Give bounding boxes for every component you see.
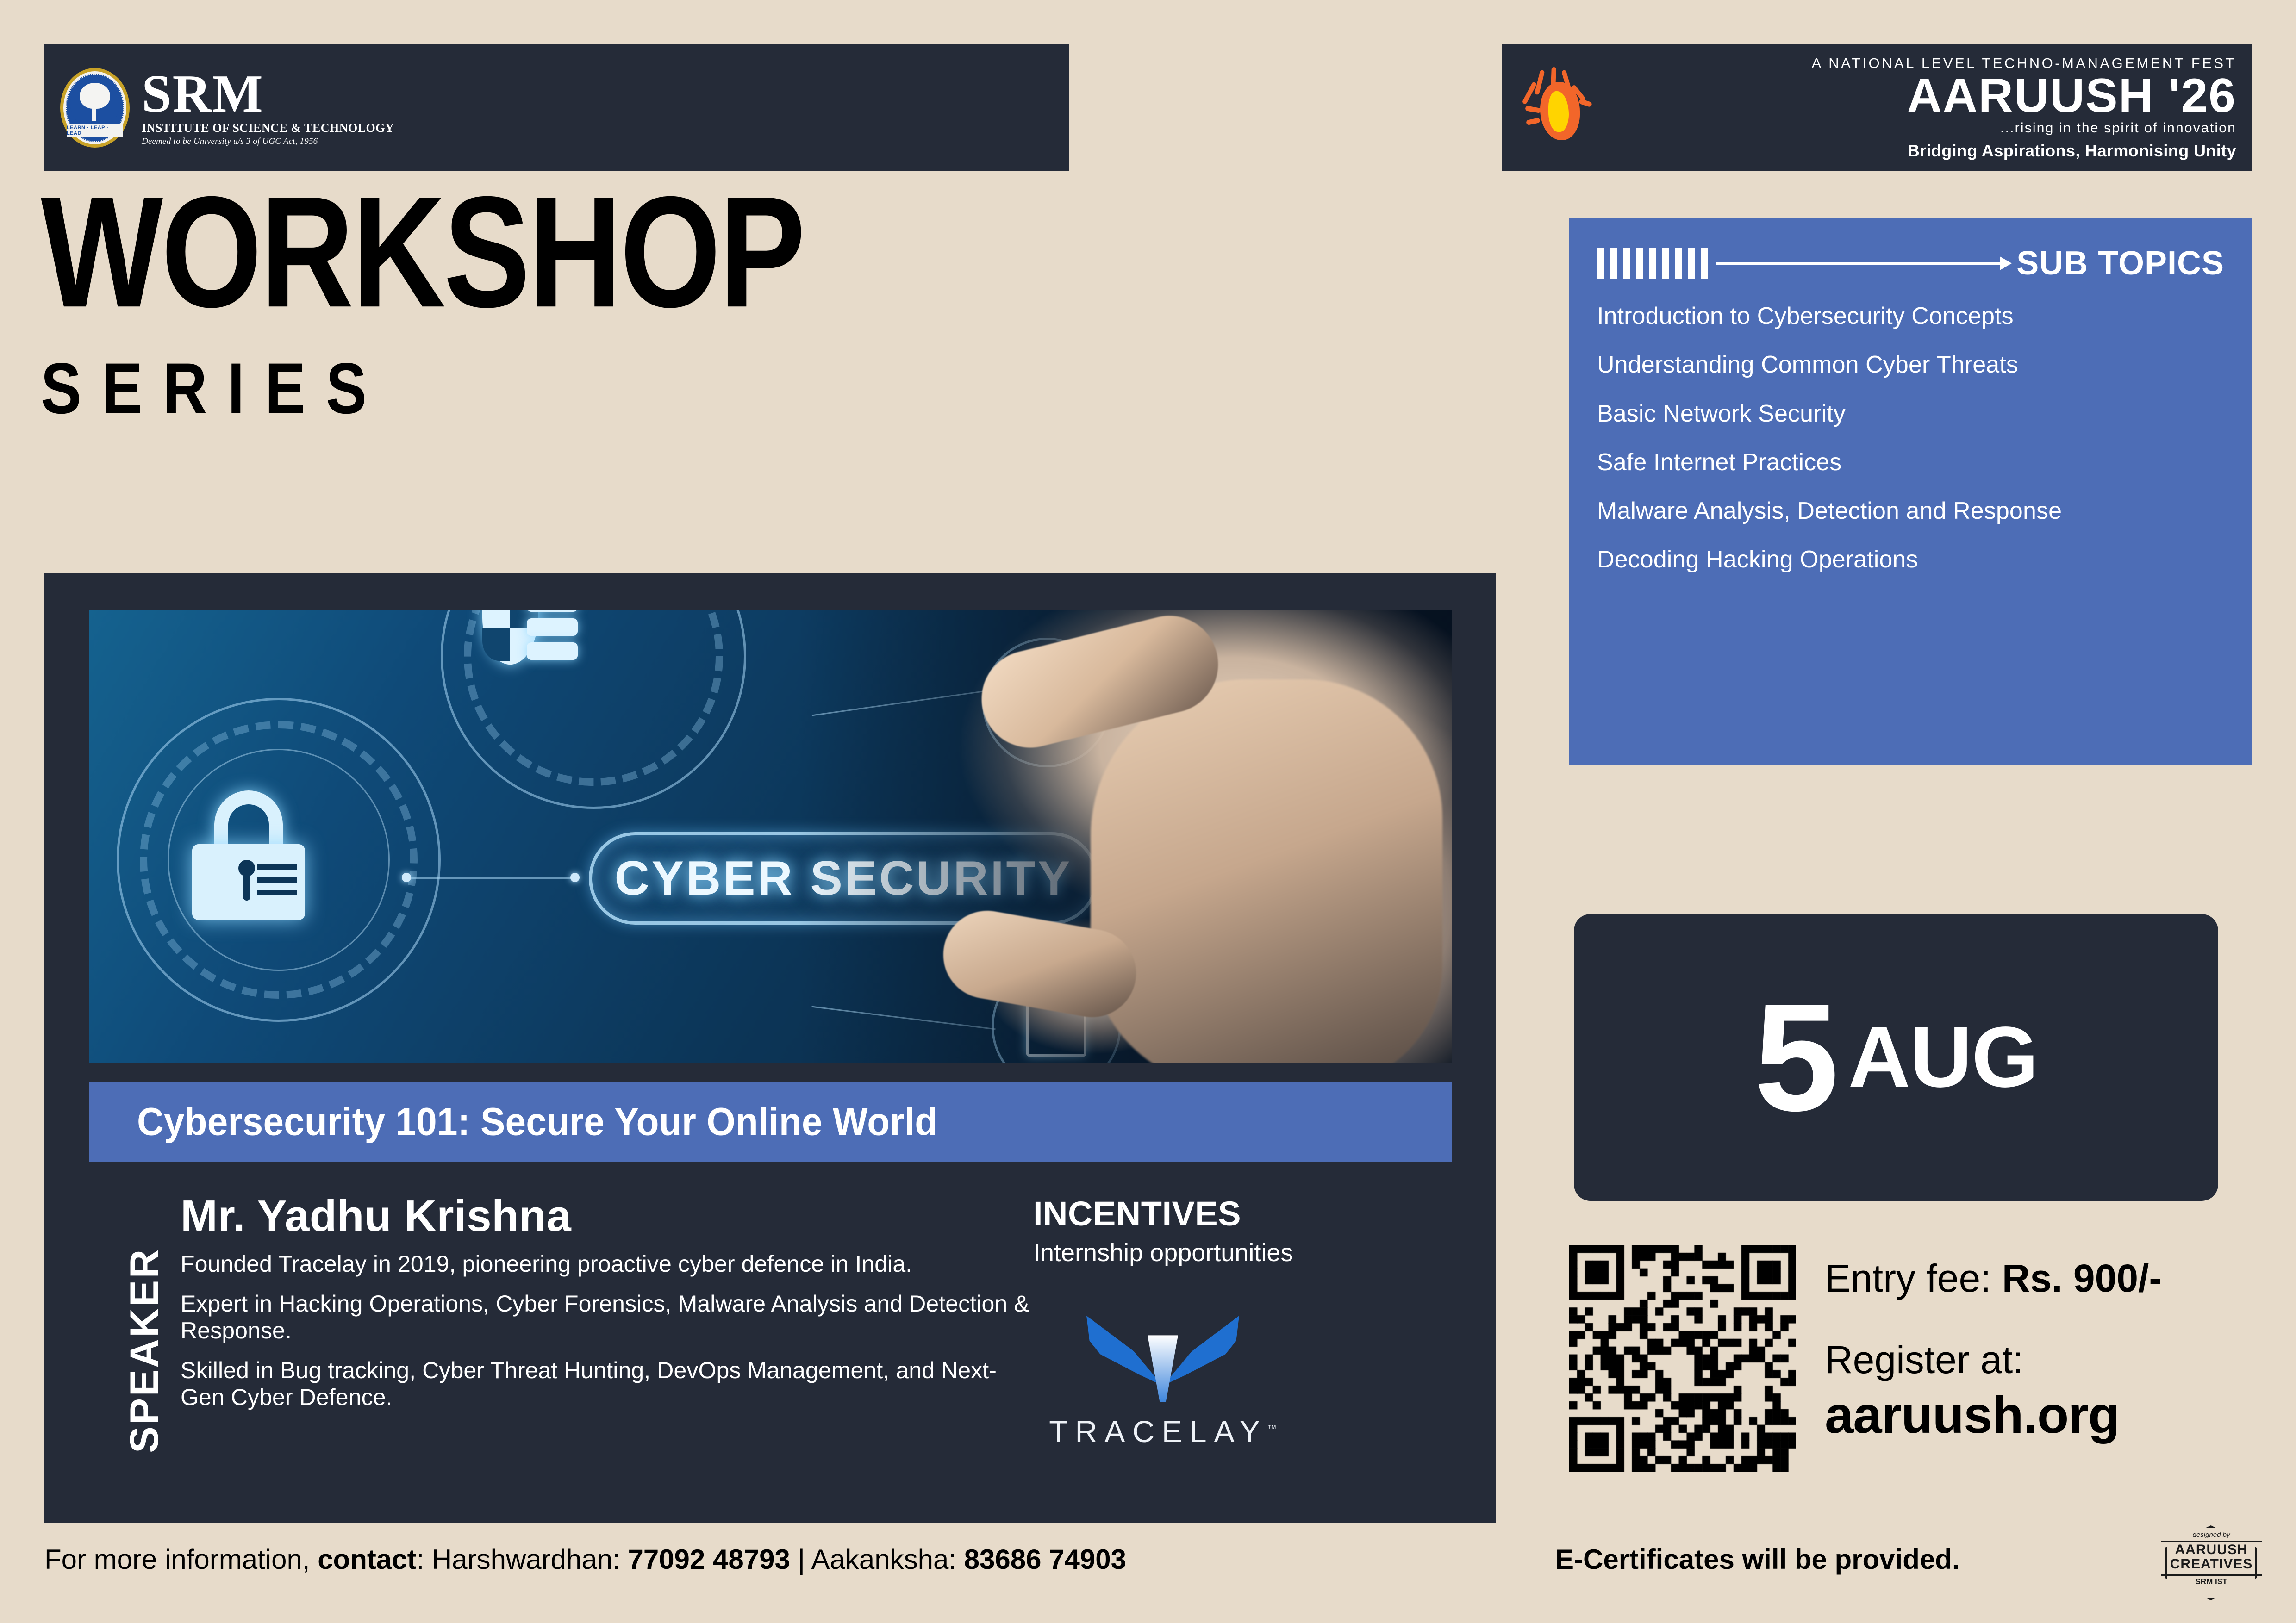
event-date-month: AUG [1848, 1021, 2038, 1094]
registration-section: Entry fee: Rs. 900/- Register at: aaruus… [1569, 1245, 2282, 1504]
contact-line: For more information, contact: Harshward… [44, 1546, 1126, 1573]
aaruush-tagline: A NATIONAL LEVEL TECHNO-MANAGEMENT FEST [1812, 56, 2236, 70]
aaruush-theme: Bridging Aspirations, Harmonising Unity [1908, 143, 2236, 159]
srm-logo-block: LEARN · LEAP · LEAD SRM INSTITUTE OF SCI… [44, 44, 1069, 171]
subtopic-item: Basic Network Security [1597, 400, 2224, 428]
aaruush-rising-line: ...rising in the spirit of innovation [2000, 121, 2236, 135]
subtopic-item: Introduction to Cybersecurity Concepts [1597, 303, 2224, 330]
speaker-bio-3: Skilled in Bug tracking, Cyber Threat Hu… [181, 1357, 1033, 1411]
aaruush-creatives-logo: designed by AARUUSH CREATIVES SRM IST [2158, 1523, 2265, 1606]
subtopic-item: Malware Analysis, Detection and Response [1597, 497, 2224, 525]
contact-separator: | Aakanksha: [790, 1544, 964, 1575]
srm-seal-icon: LEARN · LEAP · LEAD [60, 68, 130, 148]
page-footer: For more information, contact: Harshward… [0, 1541, 2296, 1601]
hand-touching-screen [896, 610, 1452, 1063]
incentives-text: Internship opportunities [1033, 1239, 1441, 1267]
srm-name: SRM [142, 68, 394, 119]
designer-line-2: AARUUSH CREATIVES [2158, 1543, 2265, 1571]
shield-database-icon [482, 610, 561, 684]
contact-number-1: 77092 48793 [628, 1544, 790, 1575]
srm-seal-motto: LEARN · LEAP · LEAD [67, 124, 123, 137]
tracelay-logo: TRACELAY™ [1033, 1311, 1292, 1449]
entry-fee-label: Entry fee: [1825, 1256, 2002, 1300]
page-header: LEARN · LEAP · LEAD SRM INSTITUTE OF SCI… [0, 0, 2296, 171]
workshop-card: CYBER SECURITY Cybersecurity 101: Secure… [44, 573, 1496, 1523]
speaker-section: SPEAKER Mr. Yadhu Krishna Founded Tracel… [89, 1188, 1033, 1512]
aaruush-sun-icon [1522, 67, 1591, 148]
aaruush-name: AARUUSH '26 [1907, 71, 2236, 120]
register-url[interactable]: aaruush.org [1825, 1389, 2282, 1441]
subtopics-heading: SUB TOPICS [2016, 244, 2224, 282]
padlock-icon [188, 790, 309, 902]
aaruush-logo-block: A NATIONAL LEVEL TECHNO-MANAGEMENT FEST … [1502, 44, 2252, 171]
contact-rest: : Harshwardhan: [417, 1544, 628, 1575]
subtopics-panel: SUB TOPICS Introduction to Cybersecurity… [1569, 218, 2252, 765]
title-workshop: WORKSHOP [41, 185, 1522, 319]
register-label: Register at: [1825, 1340, 2282, 1379]
subtopic-item: Decoding Hacking Operations [1597, 546, 2224, 573]
registration-qr-code[interactable] [1569, 1245, 1796, 1486]
speaker-vertical-label: SPEAKER [117, 1188, 172, 1512]
entry-fee: Entry fee: Rs. 900/- [1825, 1259, 2282, 1298]
tracelay-wings-icon [1086, 1311, 1239, 1402]
speaker-bio-1: Founded Tracelay in 2019, pioneering pro… [181, 1250, 1033, 1277]
event-date-badge: 5 AUG [1574, 914, 2218, 1201]
workshop-topic-banner: Cybersecurity 101: Secure Your Online Wo… [89, 1082, 1452, 1162]
incentives-heading: INCENTIVES [1033, 1197, 1441, 1231]
designer-line-3: SRM IST [2158, 1577, 2265, 1586]
workshop-topic-text: Cybersecurity 101: Secure Your Online Wo… [137, 1099, 937, 1144]
designer-line-1: designed by [2158, 1531, 2265, 1539]
event-date-day: 5 [1754, 996, 1836, 1119]
page-title: WORKSHOP SERIES [41, 185, 1522, 417]
certificates-note: E-Certificates will be provided. [1555, 1546, 1960, 1573]
speaker-name: Mr. Yadhu Krishna [181, 1194, 1033, 1238]
entry-fee-value: Rs. 900/- [2002, 1256, 2162, 1300]
tracelay-wordmark: TRACELAY [1049, 1414, 1267, 1449]
incentives-section: INCENTIVES Internship opportunities TRAC… [1033, 1188, 1441, 1512]
contact-prefix: For more information, [44, 1544, 318, 1575]
cyber-security-hero-image: CYBER SECURITY [89, 610, 1452, 1063]
contact-word: contact [318, 1544, 416, 1575]
contact-number-2: 83686 74903 [964, 1544, 1126, 1575]
srm-accreditation: Deemed to be University u/s 3 of UGC Act… [142, 137, 394, 147]
arrow-right-icon [1716, 248, 2012, 279]
subtopic-item: Safe Internet Practices [1597, 449, 2224, 476]
title-series: SERIES [41, 347, 1522, 429]
subtopic-item: Understanding Common Cyber Threats [1597, 351, 2224, 379]
srm-subtitle: INSTITUTE OF SCIENCE & TECHNOLOGY [142, 121, 394, 135]
speaker-bio-2: Expert in Hacking Operations, Cyber Fore… [181, 1290, 1033, 1344]
barcode-decoration-icon [1597, 248, 1708, 279]
tracelay-trademark: ™ [1267, 1424, 1277, 1434]
